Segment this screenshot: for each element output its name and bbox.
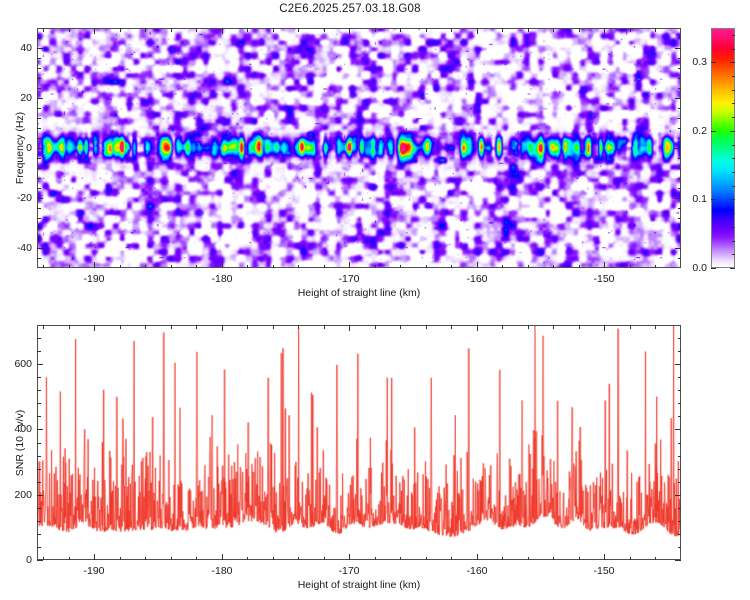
colorbar-tick-minor — [732, 254, 735, 255]
y-tick-minor-right — [678, 377, 682, 378]
x-tick-minor — [451, 265, 452, 269]
x-tick-minor — [298, 265, 299, 269]
x-tick-minor-top — [502, 325, 503, 329]
x-tick-minor-top — [528, 28, 529, 32]
x-tick-minor-top — [120, 325, 121, 329]
x-tick-minor — [247, 557, 248, 561]
y-tick-minor-right — [678, 218, 682, 219]
y-tick-major — [37, 560, 43, 561]
y-tick-minor-right — [678, 416, 682, 417]
x-tick-label: -160 — [466, 273, 487, 285]
spectrogram-canvas — [38, 29, 680, 267]
x-tick-label: -190 — [83, 273, 104, 285]
x-tick-minor — [145, 265, 146, 269]
y-tick-minor — [37, 178, 41, 179]
y-tick-minor-right — [678, 508, 682, 509]
x-tick-label: -170 — [338, 273, 359, 285]
figure-root: C2E6.2025.257.03.18.G08 -190-180-170-160… — [0, 0, 750, 600]
x-tick-minor-top — [69, 28, 70, 32]
colorbar-tick-minor — [732, 186, 735, 187]
x-tick-minor-top — [579, 28, 580, 32]
figure-title: C2E6.2025.257.03.18.G08 — [0, 3, 700, 15]
colorbar-tick-label: 0.1 — [681, 193, 707, 205]
y-tick-minor-right — [678, 338, 682, 339]
x-tick-minor — [528, 265, 529, 269]
x-tick-minor-top — [43, 28, 44, 32]
x-tick-minor — [196, 557, 197, 561]
y-tick-minor — [37, 377, 41, 378]
y-tick-minor-right — [678, 38, 682, 39]
y-tick-minor-right — [678, 78, 682, 79]
colorbar-tick-minor — [732, 76, 735, 77]
x-tick-label: -170 — [338, 565, 359, 577]
y-tick-minor — [37, 168, 41, 169]
x-tick-minor-top — [426, 325, 427, 329]
y-tick-minor — [37, 238, 41, 239]
x-tick-minor-top — [502, 28, 503, 32]
colorbar-tick-left — [711, 268, 716, 269]
x-tick-minor-top — [247, 28, 248, 32]
colorbar-tick — [730, 131, 735, 132]
x-tick-minor — [528, 557, 529, 561]
y-tick-minor — [37, 338, 41, 339]
x-tick-minor — [655, 557, 656, 561]
colorbar — [711, 28, 735, 268]
y-tick-major — [37, 48, 43, 49]
y-tick-minor — [37, 521, 41, 522]
x-tick-minor — [247, 265, 248, 269]
x-tick-major — [222, 262, 223, 268]
spectrogram-panel — [37, 28, 681, 268]
y-tick-minor-right — [678, 118, 682, 119]
colorbar-tick — [730, 268, 735, 269]
y-tick-minor-right — [678, 238, 682, 239]
x-tick-minor — [553, 265, 554, 269]
y-tick-minor-right — [678, 88, 682, 89]
x-tick-minor-top — [579, 325, 580, 329]
colorbar-tick-minor — [732, 103, 735, 104]
y-tick-minor — [37, 443, 41, 444]
y-tick-minor — [37, 482, 41, 483]
y-tick-minor-right — [678, 188, 682, 189]
snr-x-axis-label: Height of straight line (km) — [298, 579, 421, 591]
x-tick-major — [349, 262, 350, 268]
y-tick-major — [37, 248, 43, 249]
y-tick-minor-right — [678, 208, 682, 209]
x-tick-minor-top — [145, 325, 146, 329]
spectrogram-x-axis-label: Height of straight line (km) — [298, 287, 421, 299]
x-tick-minor — [630, 557, 631, 561]
y-tick-major-right — [675, 48, 681, 49]
y-tick-minor — [37, 158, 41, 159]
x-tick-minor — [43, 557, 44, 561]
snr-canvas — [38, 326, 680, 559]
x-tick-minor-top — [145, 28, 146, 32]
y-tick-minor — [37, 138, 41, 139]
y-tick-minor-right — [678, 534, 682, 535]
x-tick-minor — [324, 265, 325, 269]
x-tick-minor-top — [553, 28, 554, 32]
x-tick-minor — [502, 557, 503, 561]
colorbar-tick-minor — [732, 49, 735, 50]
x-tick-major-top — [94, 325, 95, 331]
y-tick-major-right — [675, 495, 681, 496]
x-tick-label: -150 — [593, 273, 614, 285]
y-tick-major-right — [675, 248, 681, 249]
x-tick-minor — [400, 265, 401, 269]
y-tick-label: 200 — [3, 489, 32, 501]
y-tick-label: 600 — [3, 358, 32, 370]
x-tick-minor — [145, 557, 146, 561]
x-tick-minor-top — [196, 325, 197, 329]
x-tick-minor-top — [451, 28, 452, 32]
y-tick-minor — [37, 38, 41, 39]
snr-panel — [37, 325, 681, 560]
x-tick-minor-top — [528, 325, 529, 329]
x-tick-minor-top — [196, 28, 197, 32]
x-tick-major-top — [94, 28, 95, 34]
y-tick-minor — [37, 58, 41, 59]
x-tick-minor-top — [171, 325, 172, 329]
x-tick-minor — [451, 557, 452, 561]
x-tick-minor — [171, 557, 172, 561]
y-tick-minor — [37, 534, 41, 535]
x-tick-major — [349, 554, 350, 560]
y-tick-major-right — [675, 364, 681, 365]
y-tick-label: 0 — [3, 554, 32, 566]
y-tick-minor — [37, 416, 41, 417]
x-tick-major-top — [477, 28, 478, 34]
x-tick-major — [604, 554, 605, 560]
colorbar-tick — [730, 62, 735, 63]
spectrogram-y-axis-label: Frequency (Hz) — [14, 112, 26, 184]
x-tick-minor — [69, 265, 70, 269]
x-tick-minor — [298, 557, 299, 561]
x-tick-minor-top — [69, 325, 70, 329]
y-tick-label: -20 — [3, 192, 32, 204]
x-tick-minor-top — [451, 325, 452, 329]
y-tick-label: 20 — [3, 92, 32, 104]
y-tick-label: 40 — [3, 42, 32, 54]
x-tick-minor-top — [630, 28, 631, 32]
x-tick-minor-top — [375, 28, 376, 32]
x-tick-major — [222, 554, 223, 560]
y-tick-minor-right — [678, 403, 682, 404]
x-tick-minor-top — [655, 28, 656, 32]
y-tick-minor-right — [678, 258, 682, 259]
x-tick-major — [94, 554, 95, 560]
x-tick-minor — [655, 265, 656, 269]
y-tick-minor — [37, 228, 41, 229]
x-tick-minor-top — [298, 28, 299, 32]
x-tick-label: -150 — [593, 565, 614, 577]
y-tick-major — [37, 148, 43, 149]
colorbar-tick-left — [711, 131, 716, 132]
x-tick-minor-top — [426, 28, 427, 32]
y-tick-minor — [37, 88, 41, 89]
colorbar-tick-minor — [732, 158, 735, 159]
x-tick-minor — [426, 557, 427, 561]
colorbar-tick-minor — [732, 227, 735, 228]
snr-y-axis-label: SNR (10 · v/v) — [14, 409, 26, 476]
colorbar-tick-minor — [732, 90, 735, 91]
y-tick-minor-right — [678, 138, 682, 139]
colorbar-tick-label: 0.0 — [681, 262, 707, 274]
x-tick-minor-top — [324, 28, 325, 32]
x-tick-minor-top — [630, 325, 631, 329]
y-tick-major-right — [675, 429, 681, 430]
y-tick-minor — [37, 68, 41, 69]
x-tick-minor-top — [120, 28, 121, 32]
x-tick-minor — [324, 557, 325, 561]
y-tick-major-right — [675, 98, 681, 99]
x-tick-minor — [196, 265, 197, 269]
x-tick-minor-top — [400, 28, 401, 32]
x-tick-minor — [426, 265, 427, 269]
colorbar-tick-label: 0.2 — [681, 125, 707, 137]
x-tick-label: -190 — [83, 565, 104, 577]
y-tick-minor — [37, 508, 41, 509]
colorbar-tick-minor — [732, 241, 735, 242]
x-tick-minor-top — [375, 325, 376, 329]
x-tick-minor — [273, 265, 274, 269]
x-tick-major-top — [349, 325, 350, 331]
x-tick-minor-top — [298, 325, 299, 329]
y-tick-minor — [37, 258, 41, 259]
y-tick-minor — [37, 128, 41, 129]
y-tick-minor-right — [678, 178, 682, 179]
colorbar-tick-label: 0.3 — [681, 56, 707, 68]
y-tick-minor — [37, 469, 41, 470]
y-tick-minor-right — [678, 168, 682, 169]
y-tick-minor — [37, 456, 41, 457]
y-tick-minor-right — [678, 456, 682, 457]
y-tick-minor-right — [678, 469, 682, 470]
x-tick-major — [477, 554, 478, 560]
x-tick-minor — [502, 265, 503, 269]
y-tick-minor-right — [678, 547, 682, 548]
y-tick-minor-right — [678, 158, 682, 159]
y-tick-minor — [37, 118, 41, 119]
x-tick-major-top — [349, 28, 350, 34]
colorbar-tick-minor — [732, 145, 735, 146]
colorbar-tick — [730, 199, 735, 200]
y-tick-major — [37, 98, 43, 99]
y-tick-minor-right — [678, 228, 682, 229]
x-tick-minor-top — [43, 325, 44, 329]
x-tick-minor-top — [400, 325, 401, 329]
x-tick-minor — [630, 265, 631, 269]
x-tick-minor — [579, 265, 580, 269]
x-tick-major — [94, 262, 95, 268]
y-tick-minor-right — [678, 351, 682, 352]
y-tick-major-right — [675, 560, 681, 561]
x-tick-label: -160 — [466, 565, 487, 577]
x-tick-minor — [553, 557, 554, 561]
colorbar-tick-left — [711, 199, 716, 200]
y-tick-minor — [37, 78, 41, 79]
x-tick-major — [604, 262, 605, 268]
x-tick-minor-top — [553, 325, 554, 329]
y-tick-minor — [37, 218, 41, 219]
colorbar-tick-left — [711, 62, 716, 63]
y-tick-minor-right — [678, 68, 682, 69]
colorbar-tick-minor — [732, 35, 735, 36]
colorbar-tick-minor — [732, 172, 735, 173]
y-tick-minor — [37, 208, 41, 209]
x-tick-label: -180 — [211, 273, 232, 285]
x-tick-minor — [400, 557, 401, 561]
y-tick-major — [37, 495, 43, 496]
x-tick-minor-top — [273, 325, 274, 329]
y-tick-minor — [37, 403, 41, 404]
colorbar-tick-minor — [732, 213, 735, 214]
y-tick-minor-right — [678, 443, 682, 444]
y-tick-minor — [37, 188, 41, 189]
y-tick-major — [37, 429, 43, 430]
x-tick-label: -180 — [211, 565, 232, 577]
x-tick-minor — [120, 265, 121, 269]
y-tick-minor-right — [678, 521, 682, 522]
x-tick-minor — [375, 557, 376, 561]
x-tick-major — [477, 262, 478, 268]
x-tick-minor-top — [655, 325, 656, 329]
y-tick-label: -40 — [3, 242, 32, 254]
y-tick-minor-right — [678, 390, 682, 391]
x-tick-major-top — [222, 325, 223, 331]
x-tick-major-top — [604, 325, 605, 331]
y-tick-minor-right — [678, 108, 682, 109]
x-tick-major-top — [477, 325, 478, 331]
x-tick-minor — [43, 265, 44, 269]
x-tick-minor — [273, 557, 274, 561]
x-tick-minor-top — [324, 325, 325, 329]
x-tick-minor-top — [273, 28, 274, 32]
y-tick-minor — [37, 351, 41, 352]
x-tick-minor-top — [247, 325, 248, 329]
y-tick-minor — [37, 390, 41, 391]
x-tick-minor — [579, 557, 580, 561]
x-tick-minor — [120, 557, 121, 561]
y-tick-minor — [37, 547, 41, 548]
x-tick-minor — [375, 265, 376, 269]
y-tick-major-right — [675, 148, 681, 149]
colorbar-tick-minor — [732, 117, 735, 118]
y-tick-major — [37, 364, 43, 365]
x-tick-major-top — [604, 28, 605, 34]
x-tick-minor-top — [171, 28, 172, 32]
y-tick-major — [37, 198, 43, 199]
x-tick-major-top — [222, 28, 223, 34]
x-tick-minor — [69, 557, 70, 561]
y-tick-minor — [37, 108, 41, 109]
x-tick-minor — [171, 265, 172, 269]
y-tick-minor-right — [678, 482, 682, 483]
